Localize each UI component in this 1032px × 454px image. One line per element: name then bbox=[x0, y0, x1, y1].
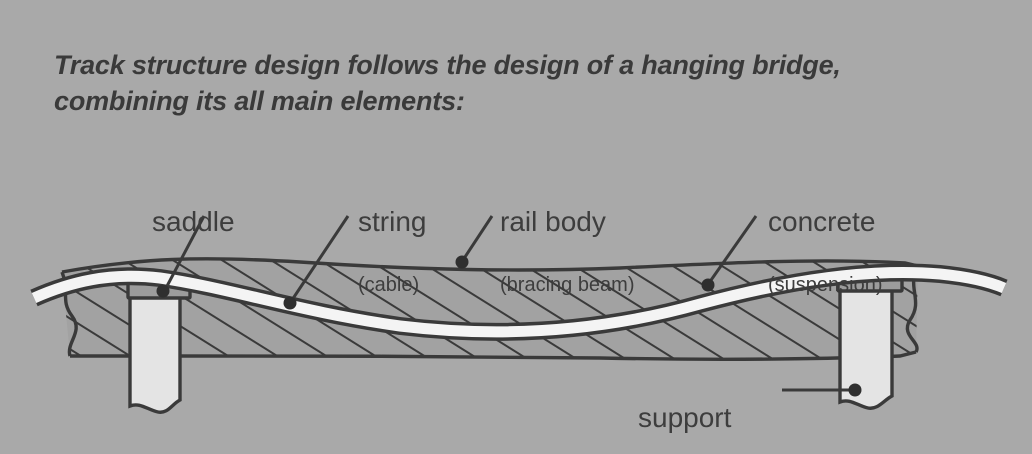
label-string: string (cable) bbox=[358, 172, 426, 334]
dot-support bbox=[849, 384, 862, 397]
dot-string bbox=[284, 297, 297, 310]
label-string-main: string bbox=[358, 208, 426, 237]
label-string-sub: (cable) bbox=[358, 273, 426, 298]
label-saddle-main: saddle bbox=[152, 208, 235, 237]
leader-rail-body bbox=[463, 216, 492, 260]
column-body-left bbox=[130, 296, 180, 412]
label-support: support bbox=[638, 368, 731, 454]
label-rail-body: rail body (bracing beam) bbox=[500, 172, 635, 334]
dot-rail-body bbox=[456, 256, 469, 269]
support-column-left bbox=[128, 282, 190, 412]
dot-concrete bbox=[702, 279, 715, 292]
label-concrete: concrete (suspension) bbox=[768, 172, 883, 334]
label-concrete-sub: (suspension) bbox=[768, 273, 883, 298]
label-rail-body-sub: (bracing beam) bbox=[500, 273, 635, 298]
label-saddle: saddle bbox=[152, 172, 235, 273]
label-concrete-main: concrete bbox=[768, 208, 883, 237]
dot-saddle bbox=[157, 285, 170, 298]
label-support-main: support bbox=[638, 404, 731, 433]
label-rail-body-main: rail body bbox=[500, 208, 635, 237]
diagram-canvas: Track structure design follows the desig… bbox=[0, 0, 1032, 454]
